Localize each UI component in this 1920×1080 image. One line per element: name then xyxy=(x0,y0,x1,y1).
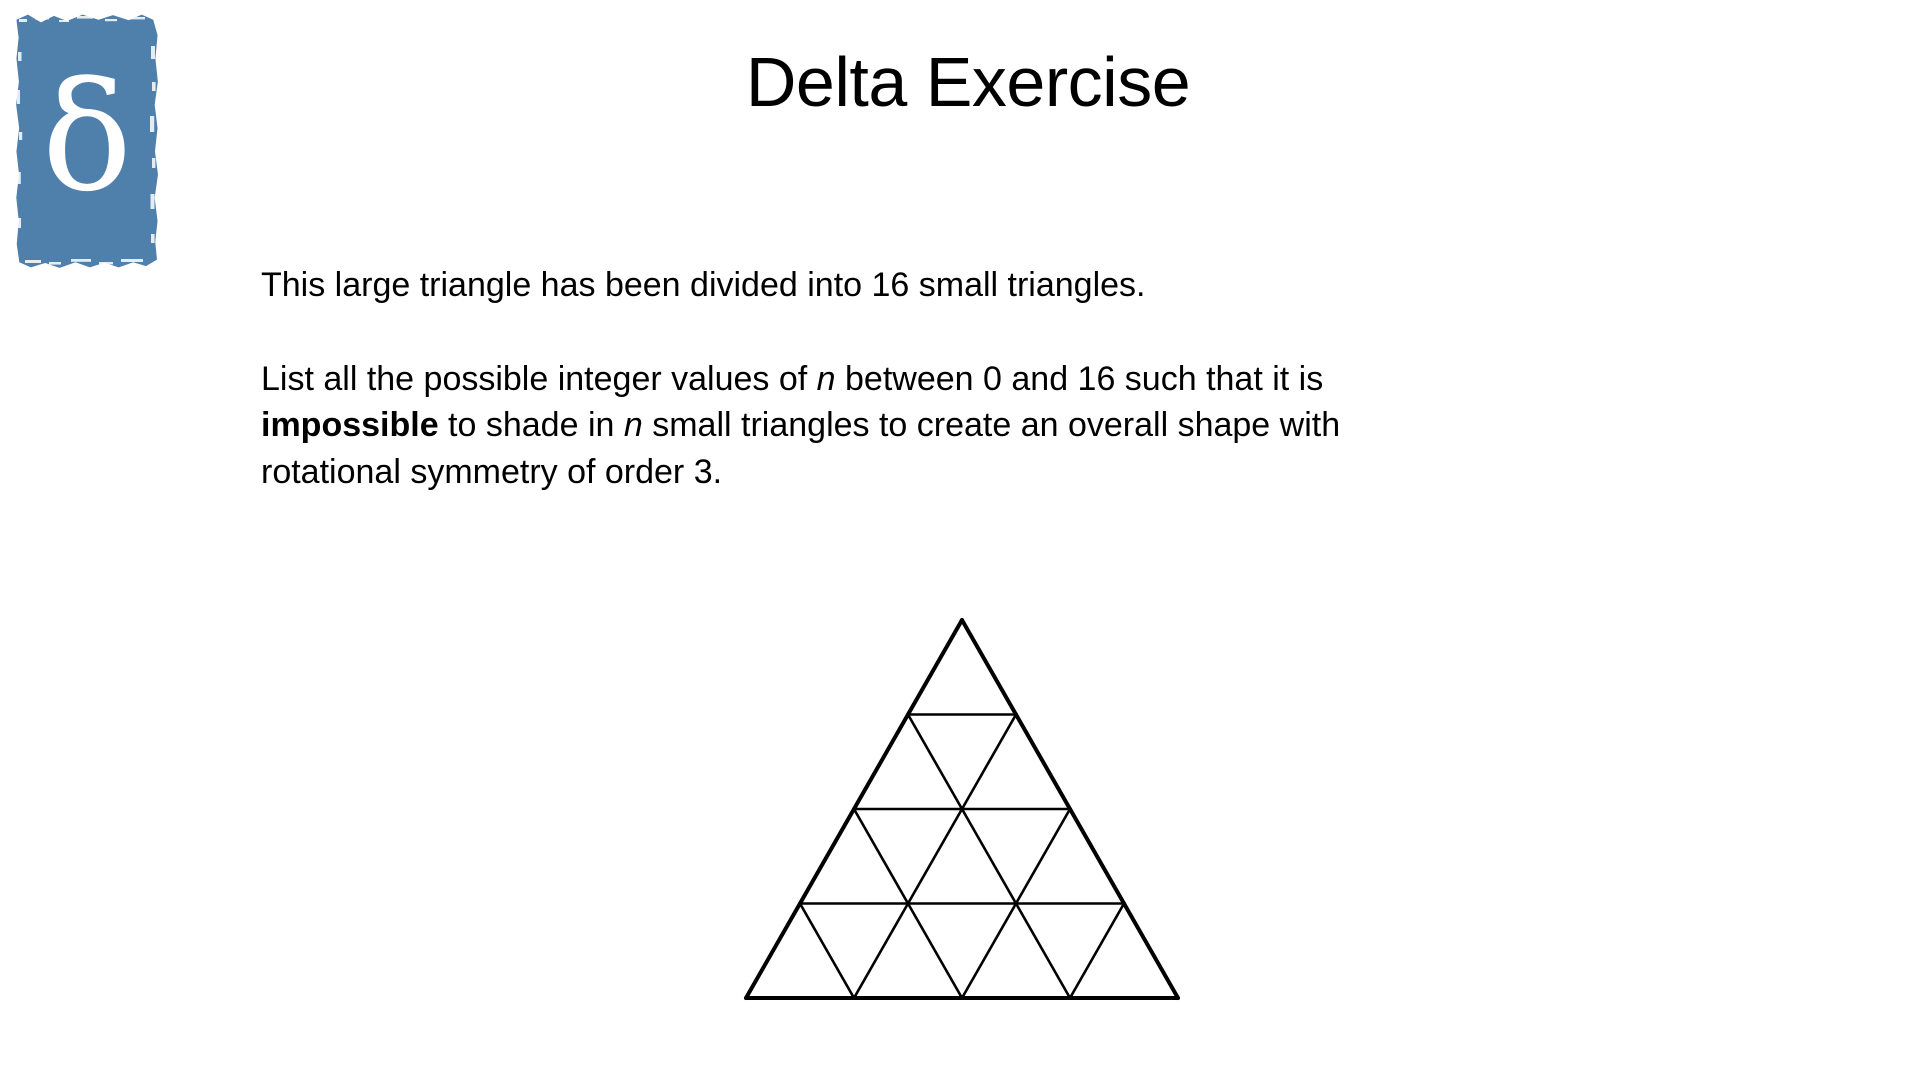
triangle-svg xyxy=(736,612,1188,1008)
paragraph-intro: This large triangle has been divided int… xyxy=(261,262,1441,308)
triangle-outer-edge xyxy=(1070,809,1124,904)
emphasis-impossible: impossible xyxy=(261,406,439,444)
triangle-outer-edge xyxy=(908,620,962,715)
triangle-outer-edge xyxy=(1016,715,1070,810)
variable-n: n xyxy=(624,406,643,444)
triangle-grid-line xyxy=(1070,904,1124,999)
triangle-grid-line xyxy=(908,904,962,999)
text-run: List all the possible integer values of xyxy=(261,360,817,398)
triangle-grid-line xyxy=(854,904,908,999)
triangle-grid-line xyxy=(962,904,1016,999)
triangle-grid-line xyxy=(800,904,854,999)
triangle-grid-line xyxy=(962,809,1016,904)
body-content: This large triangle has been divided int… xyxy=(261,228,1441,529)
variable-n: n xyxy=(817,360,836,398)
triangle-outer-edge xyxy=(854,715,908,810)
text-run: This large triangle has been divided int… xyxy=(261,266,1146,304)
triangle-grid-line xyxy=(908,809,962,904)
triangle-grid-line xyxy=(1016,809,1070,904)
page-title-text: Delta Exercise xyxy=(746,44,1190,121)
triangle-grid-line xyxy=(1016,904,1070,999)
paragraph-task: List all the possible integer values of … xyxy=(261,356,1441,495)
triangle-grid-line xyxy=(908,715,962,810)
triangle-outer-edge xyxy=(962,620,1016,715)
text-run: between 0 and 16 such that it is xyxy=(836,360,1324,398)
subdivided-triangle-figure xyxy=(736,612,1188,1008)
text-run: to shade in xyxy=(439,406,624,444)
page-title: Delta Exercise xyxy=(0,44,1920,121)
triangle-outer-edge xyxy=(1124,904,1178,999)
triangle-outer-edge xyxy=(800,809,854,904)
triangle-outer-edge xyxy=(746,904,800,999)
triangle-grid-line xyxy=(962,715,1016,810)
triangle-grid-line xyxy=(854,809,908,904)
